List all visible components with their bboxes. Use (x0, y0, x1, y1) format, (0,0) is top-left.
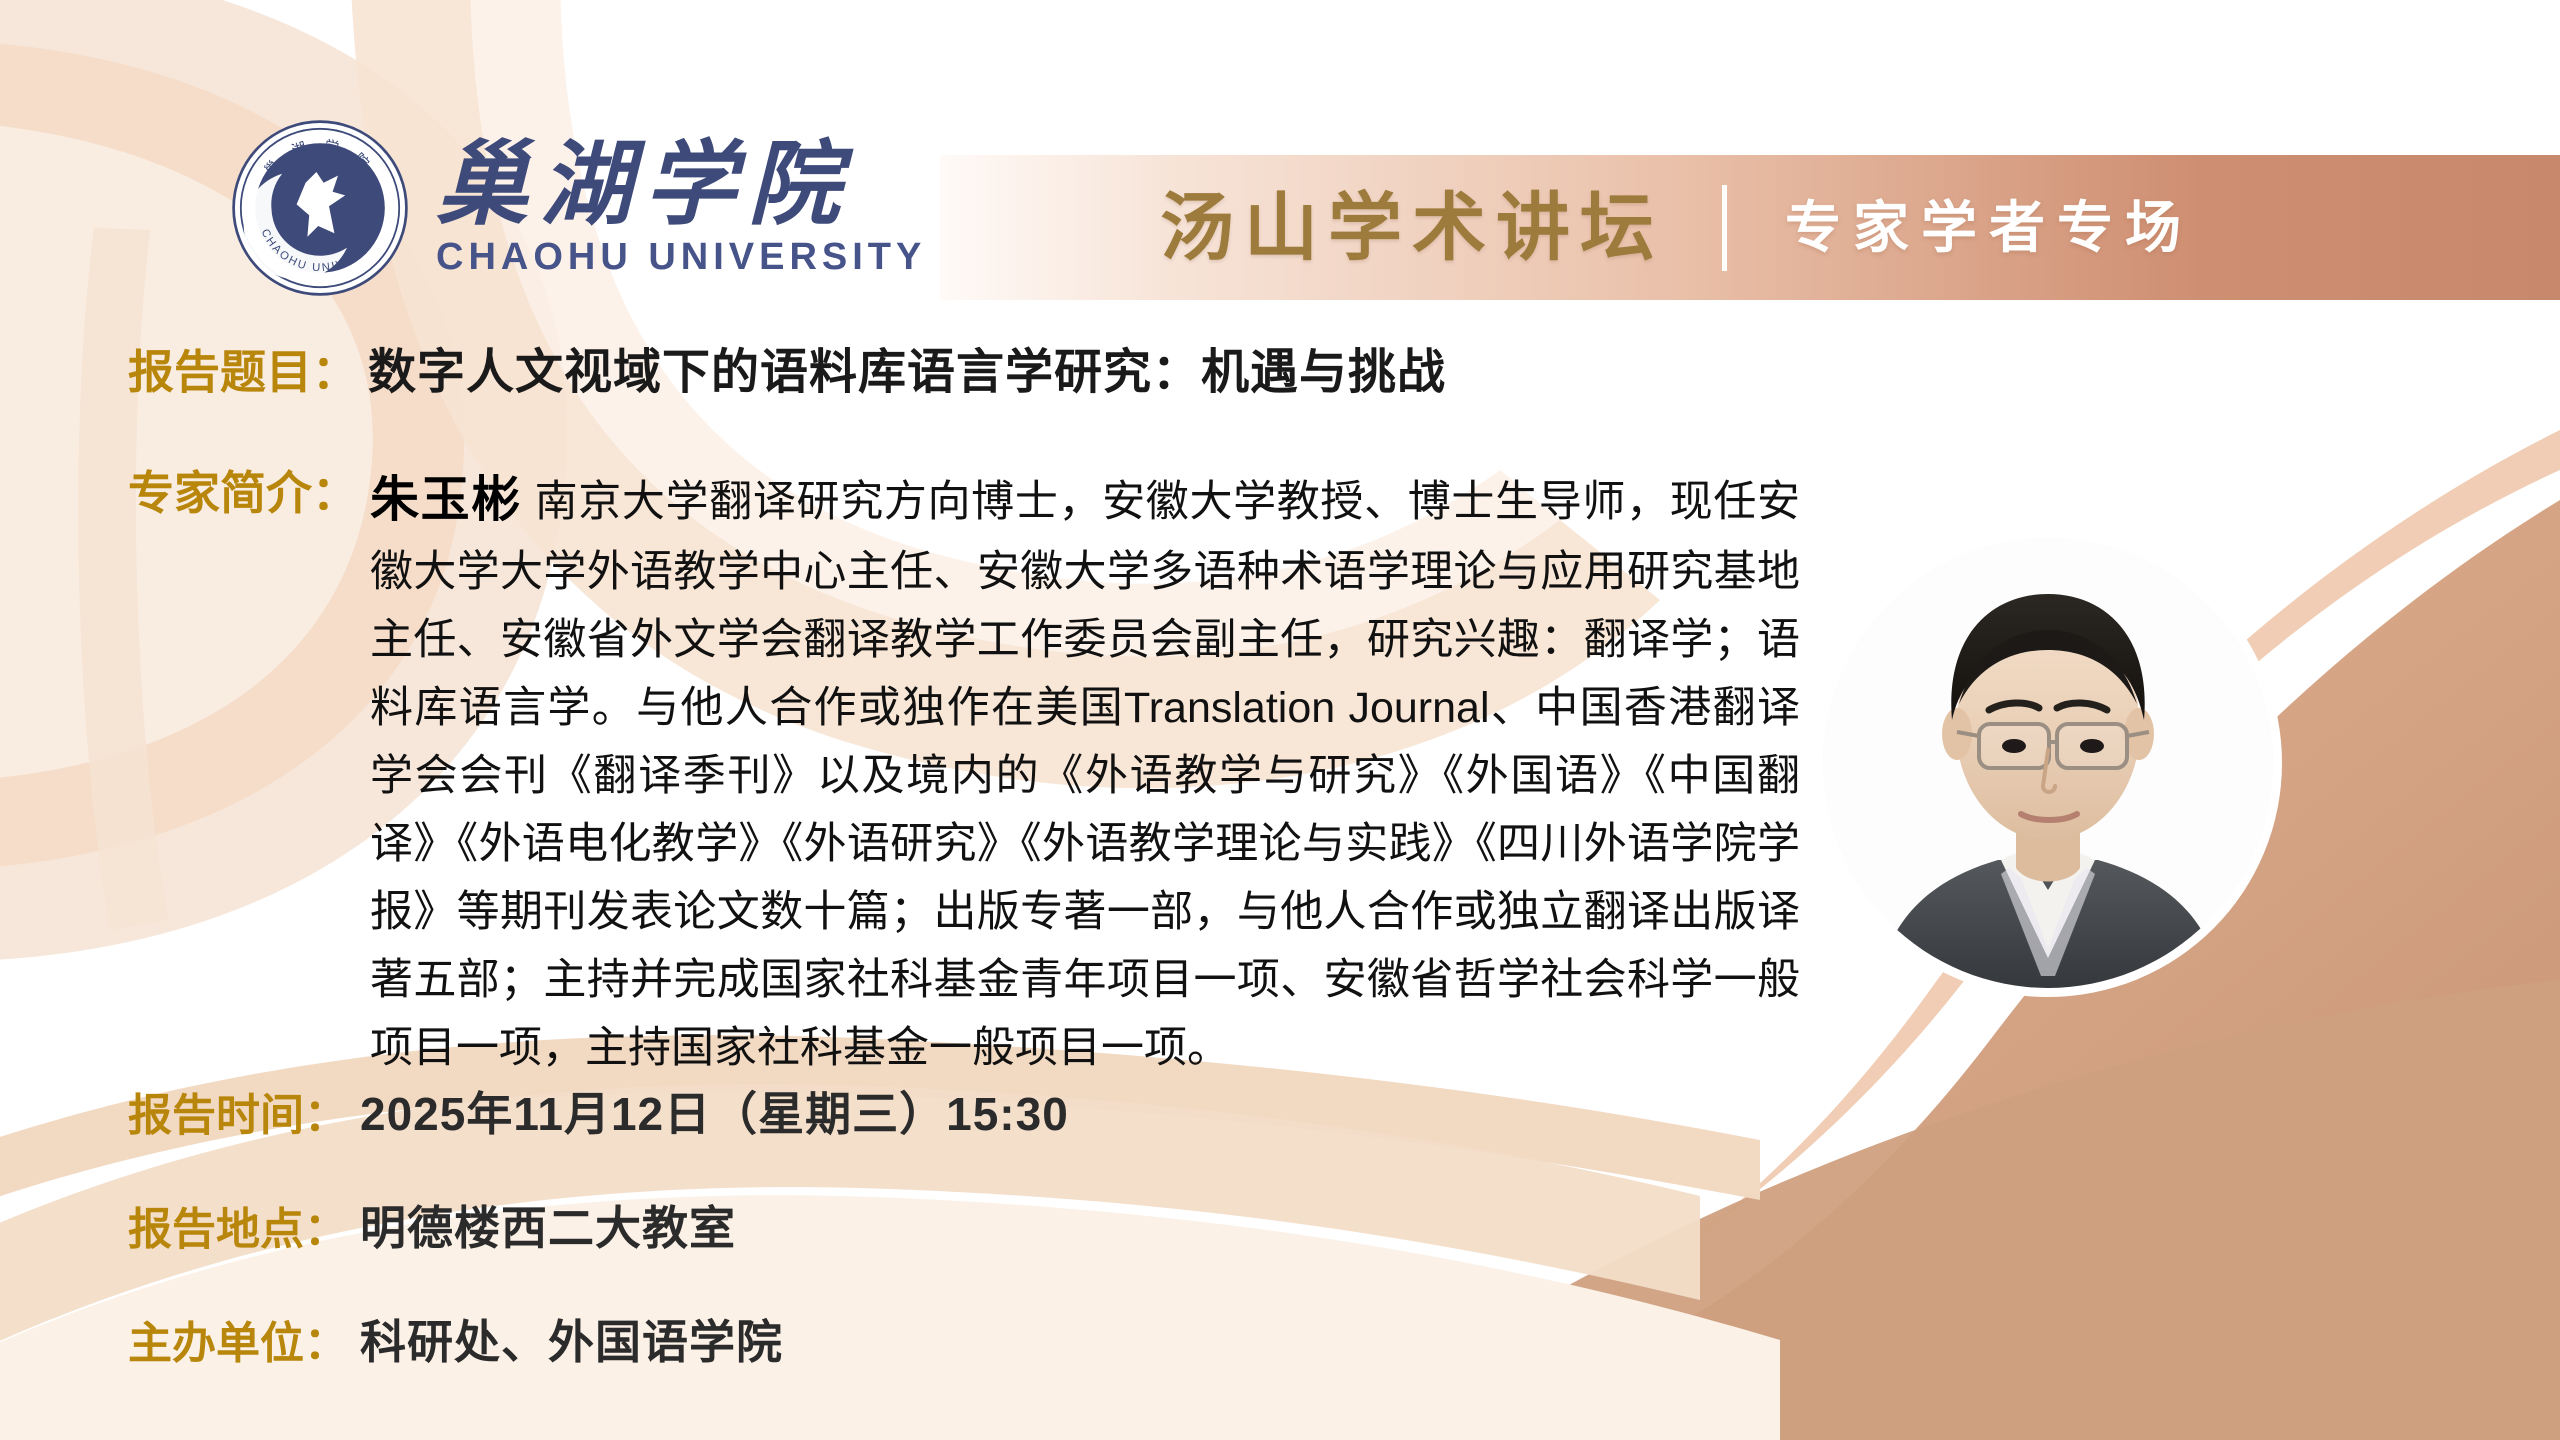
speaker-name: 朱玉彬 (370, 473, 522, 527)
university-seal-icon: 1977 巢 湖 学 院 CHAOHU UNIVERSITY (230, 118, 410, 298)
lecture-title-row: 报告题目： 数字人文视域下的语料库语言学研究：机遇与挑战 (128, 332, 1446, 402)
lecture-title-label: 报告题目： (128, 336, 358, 402)
svg-text:1977: 1977 (308, 238, 333, 251)
speaker-bio-label: 专家简介： (128, 462, 358, 524)
lecture-organizer-value: 科研处、外国语学院 (360, 1306, 783, 1372)
lecture-organizer-row: 主办单位： 科研处、外国语学院 (128, 1306, 783, 1372)
header-banner: 汤山学术讲坛 专家学者专场 (940, 155, 2560, 300)
lecture-place-row: 报告地点： 明德楼西二大教室 (128, 1192, 736, 1258)
banner-divider (1722, 185, 1727, 271)
lecture-title-value: 数字人文视域下的语料库语言学研究：机遇与挑战 (368, 332, 1446, 402)
lecture-time-label: 报告时间： (128, 1079, 348, 1143)
lecture-organizer-label: 主办单位： (128, 1307, 348, 1371)
university-logo: 1977 巢 湖 学 院 CHAOHU UNIVERSITY 巢湖学院 CHAO… (230, 118, 926, 298)
header-banner-inner: 汤山学术讲坛 专家学者专场 (940, 155, 2560, 300)
speaker-bio-body: 朱玉彬 南京大学翻译研究方向博士，安徽大学教授、博士生导师，现任安徽大学大学外语… (370, 462, 1800, 1083)
lecture-place-value: 明德楼西二大教室 (360, 1192, 736, 1258)
banner-title: 汤山学术讲坛 (1160, 191, 1664, 265)
speaker-bio-row: 专家简介： 朱玉彬 南京大学翻译研究方向博士，安徽大学教授、博士生导师，现任安徽… (128, 462, 1808, 1083)
lecture-time-value: 2025年11月12日（星期三）15:30 (360, 1078, 1069, 1144)
lecture-time-row: 报告时间： 2025年11月12日（星期三）15:30 (128, 1078, 1069, 1144)
logo-name-cn: 巢湖学院 (436, 137, 926, 234)
speaker-portrait (1823, 538, 2273, 988)
speaker-photo-illustration (1823, 538, 2273, 988)
lecture-place-label: 报告地点： (128, 1193, 348, 1257)
logo-wordmark: 巢湖学院 CHAOHU UNIVERSITY (436, 137, 926, 279)
logo-name-en: CHAOHU UNIVERSITY (436, 237, 926, 279)
speaker-bio-text: 南京大学翻译研究方向博士，安徽大学教授、博士生导师，现任安徽大学大学外语教学中心… (370, 478, 1800, 1072)
lecture-poster: 汤山学术讲坛 专家学者专场 1977 巢 湖 学 院 CHAOHU UNIVER… (0, 0, 2560, 1440)
banner-subtitle: 专家学者专场 (1785, 200, 2193, 256)
